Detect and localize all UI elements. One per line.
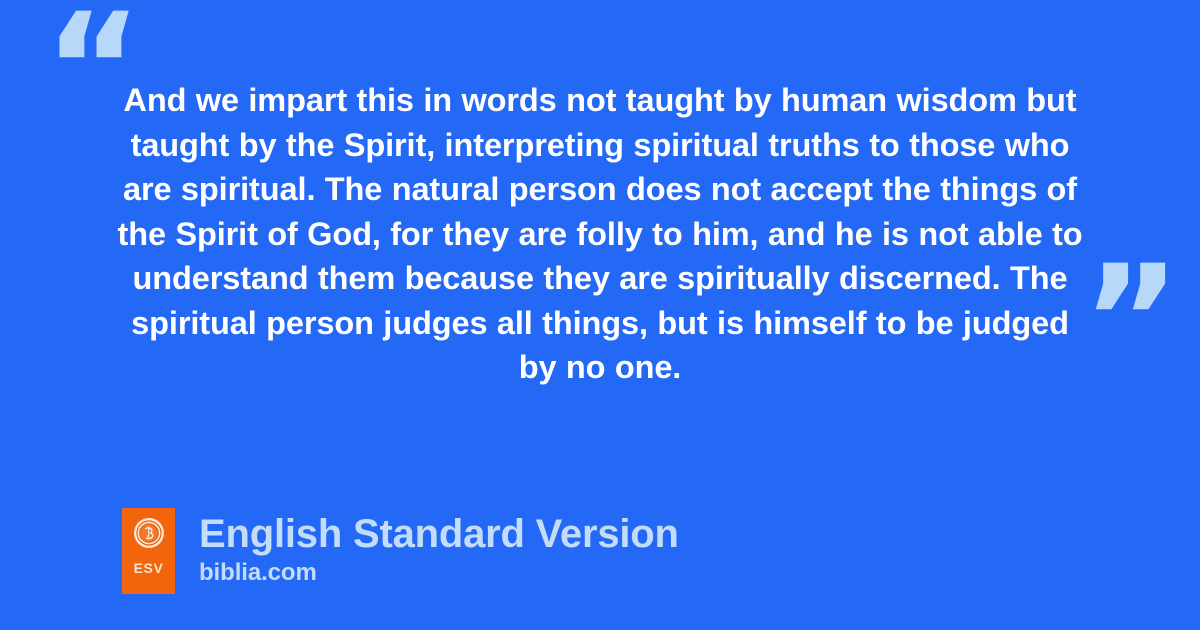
site-url: biblia.com [199,558,679,588]
esv-logo: ESV [122,508,175,594]
closing-quote-icon: ” [1082,246,1179,396]
quote-text: And we impart this in words not taught b… [110,78,1090,390]
quote-text-block: And we impart this in words not taught b… [110,78,1090,390]
bible-verse-quote-card: “ And we impart this in words not taught… [0,0,1200,630]
attribution: ESV English Standard Version biblia.com [122,508,679,594]
esv-seal-icon [133,517,165,549]
attribution-text: English Standard Version biblia.com [199,508,679,588]
bible-version-name: English Standard Version [199,510,679,558]
esv-logo-label: ESV [134,561,164,575]
